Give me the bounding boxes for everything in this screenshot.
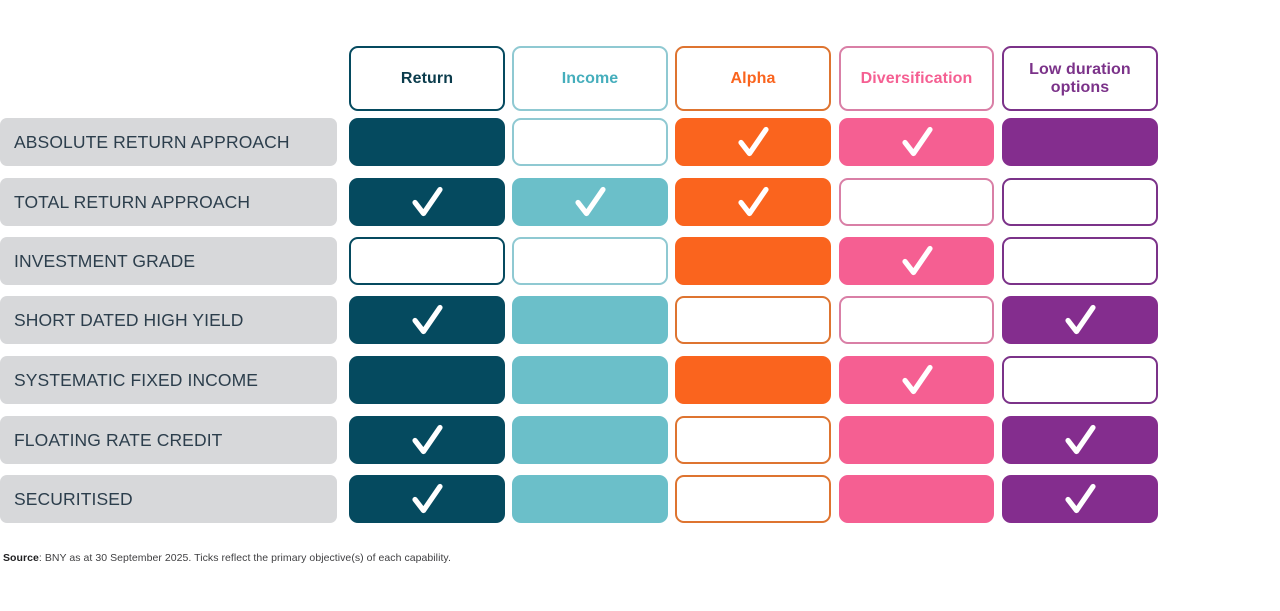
matrix-cell[interactable] bbox=[1002, 118, 1158, 166]
row-label-text: ABSOLUTE RETURN APPROACH bbox=[14, 132, 290, 153]
column-header-label: Diversification bbox=[861, 70, 973, 88]
source-label: Source bbox=[3, 552, 39, 564]
checkmark-icon bbox=[570, 182, 610, 222]
matrix-cell[interactable] bbox=[512, 356, 668, 404]
matrix-cell[interactable] bbox=[839, 475, 994, 523]
matrix-cell[interactable] bbox=[349, 178, 505, 226]
row-label-text: TOTAL RETURN APPROACH bbox=[14, 192, 250, 213]
matrix-cell[interactable] bbox=[512, 475, 668, 523]
matrix-cell[interactable] bbox=[839, 416, 994, 464]
matrix-cell[interactable] bbox=[839, 296, 994, 344]
row-label-short-dated-high-yield[interactable]: SHORT DATED HIGH YIELD bbox=[0, 296, 337, 344]
checkmark-icon bbox=[733, 122, 773, 162]
row-label-text: SECURITISED bbox=[14, 489, 133, 510]
matrix-cell[interactable] bbox=[349, 118, 505, 166]
checkmark-icon bbox=[733, 182, 773, 222]
matrix-cell[interactable] bbox=[1002, 475, 1158, 523]
row-label-absolute-return-approach[interactable]: ABSOLUTE RETURN APPROACH bbox=[0, 118, 337, 166]
matrix-cell[interactable] bbox=[675, 356, 831, 404]
matrix-cell[interactable] bbox=[839, 356, 994, 404]
row-label-floating-rate-credit[interactable]: FLOATING RATE CREDIT bbox=[0, 416, 337, 464]
column-header-return[interactable]: Return bbox=[349, 46, 505, 111]
matrix-cell[interactable] bbox=[839, 118, 994, 166]
matrix-cell[interactable] bbox=[675, 118, 831, 166]
checkmark-icon bbox=[407, 479, 447, 519]
row-label-text: SHORT DATED HIGH YIELD bbox=[14, 310, 243, 331]
matrix-cell[interactable] bbox=[1002, 296, 1158, 344]
column-header-income[interactable]: Income bbox=[512, 46, 668, 111]
source-footnote: Source: BNY as at 30 September 2025. Tic… bbox=[3, 552, 451, 564]
matrix-cell[interactable] bbox=[512, 237, 668, 285]
matrix-cell[interactable] bbox=[349, 237, 505, 285]
checkmark-icon bbox=[897, 122, 937, 162]
column-header-label: Income bbox=[562, 70, 619, 88]
column-header-alpha[interactable]: Alpha bbox=[675, 46, 831, 111]
matrix-cell[interactable] bbox=[839, 237, 994, 285]
column-header-label: Alpha bbox=[731, 70, 776, 88]
checkmark-icon bbox=[897, 360, 937, 400]
checkmark-icon bbox=[897, 241, 937, 281]
row-label-total-return-approach[interactable]: TOTAL RETURN APPROACH bbox=[0, 178, 337, 226]
checkmark-icon bbox=[1060, 479, 1100, 519]
column-header-low-duration-options[interactable]: Low duration options bbox=[1002, 46, 1158, 111]
row-label-investment-grade[interactable]: INVESTMENT GRADE bbox=[0, 237, 337, 285]
matrix-cell[interactable] bbox=[512, 178, 668, 226]
matrix-cell[interactable] bbox=[512, 416, 668, 464]
checkmark-icon bbox=[1060, 300, 1100, 340]
row-label-text: INVESTMENT GRADE bbox=[14, 251, 195, 272]
matrix-cell[interactable] bbox=[675, 178, 831, 226]
matrix-cell[interactable] bbox=[839, 178, 994, 226]
matrix-cell[interactable] bbox=[675, 237, 831, 285]
checkmark-icon bbox=[407, 420, 447, 460]
checkmark-icon bbox=[407, 300, 447, 340]
matrix-cell[interactable] bbox=[349, 416, 505, 464]
row-label-systematic-fixed-income[interactable]: SYSTEMATIC FIXED INCOME bbox=[0, 356, 337, 404]
row-label-securitised[interactable]: SECURITISED bbox=[0, 475, 337, 523]
capability-matrix: ReturnIncomeAlphaDiversificationLow dura… bbox=[0, 0, 1280, 611]
matrix-cell[interactable] bbox=[512, 296, 668, 344]
matrix-cell[interactable] bbox=[675, 296, 831, 344]
matrix-cell[interactable] bbox=[1002, 237, 1158, 285]
matrix-cell[interactable] bbox=[349, 356, 505, 404]
column-header-diversification[interactable]: Diversification bbox=[839, 46, 994, 111]
column-header-row: ReturnIncomeAlphaDiversificationLow dura… bbox=[0, 46, 1280, 111]
checkmark-icon bbox=[1060, 420, 1100, 460]
column-header-label: Return bbox=[401, 70, 453, 88]
row-label-text: SYSTEMATIC FIXED INCOME bbox=[14, 370, 258, 391]
row-label-text: FLOATING RATE CREDIT bbox=[14, 430, 222, 451]
matrix-cell[interactable] bbox=[1002, 356, 1158, 404]
matrix-cell[interactable] bbox=[675, 416, 831, 464]
source-text: : BNY as at 30 September 2025. Ticks ref… bbox=[39, 552, 451, 564]
matrix-cell[interactable] bbox=[675, 475, 831, 523]
column-header-label: Low duration options bbox=[1010, 61, 1150, 97]
matrix-cell[interactable] bbox=[349, 475, 505, 523]
matrix-cell[interactable] bbox=[349, 296, 505, 344]
matrix-cell[interactable] bbox=[512, 118, 668, 166]
matrix-cell[interactable] bbox=[1002, 178, 1158, 226]
checkmark-icon bbox=[407, 182, 447, 222]
matrix-cell[interactable] bbox=[1002, 416, 1158, 464]
